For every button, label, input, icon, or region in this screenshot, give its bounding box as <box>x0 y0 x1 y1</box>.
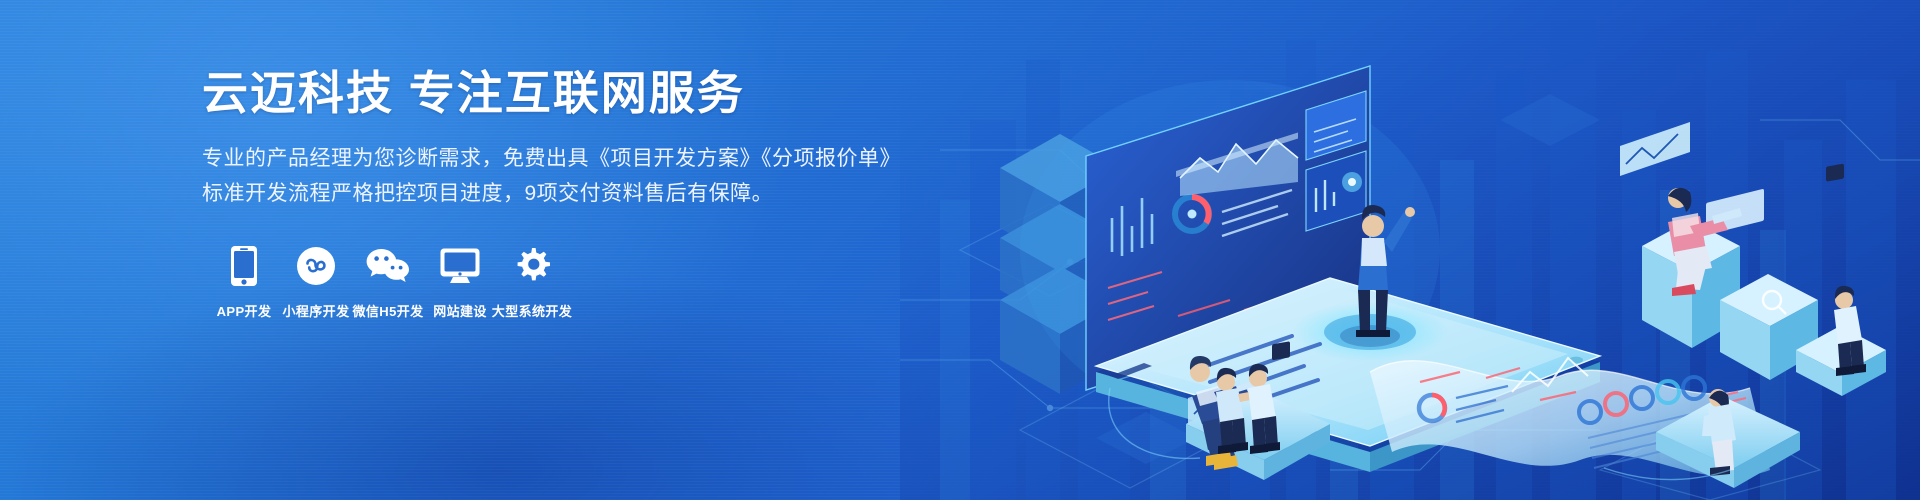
gear-icon <box>512 245 552 287</box>
service-label-website: 网站建设 <box>433 301 487 320</box>
subtitle-line-1: 专业的产品经理为您诊断需求，免费出具《项目开发方案》《分项报价单》 <box>202 141 922 176</box>
mini-program-icon <box>296 245 336 287</box>
monitor-icon <box>439 245 481 287</box>
wechat-icon <box>365 245 411 287</box>
service-item-wechat[interactable]: 微信H5开发 <box>352 245 424 320</box>
service-item-mini-program[interactable]: 小程序开发 <box>280 245 352 320</box>
hero-banner: 云迈科技 专注互联网服务 专业的产品经理为您诊断需求，免费出具《项目开发方案》《… <box>0 0 1920 500</box>
banner-content: 云迈科技 专注互联网服务 专业的产品经理为您诊断需求，免费出具《项目开发方案》《… <box>202 68 922 320</box>
page-title: 云迈科技 专注互联网服务 <box>202 68 922 119</box>
subtitle-block: 专业的产品经理为您诊断需求，免费出具《项目开发方案》《分项报价单》 标准开发流程… <box>202 141 922 211</box>
service-label-app: APP开发 <box>217 301 272 320</box>
service-label-mini-program: 小程序开发 <box>282 301 349 320</box>
service-item-website[interactable]: 网站建设 <box>424 245 496 320</box>
mobile-phone-icon <box>230 245 258 287</box>
service-item-large-system[interactable]: 大型系统开发 <box>496 245 568 320</box>
service-item-app[interactable]: APP开发 <box>208 245 280 320</box>
service-list: APP开发 小程序开发 <box>208 245 922 320</box>
service-label-wechat-h5: 微信H5开发 <box>352 301 423 320</box>
isometric-tech-illustration <box>900 0 1920 500</box>
service-label-large-system: 大型系统开发 <box>492 301 572 320</box>
subtitle-line-2: 标准开发流程严格把控项目进度，9项交付资料售后有保障。 <box>202 176 922 211</box>
